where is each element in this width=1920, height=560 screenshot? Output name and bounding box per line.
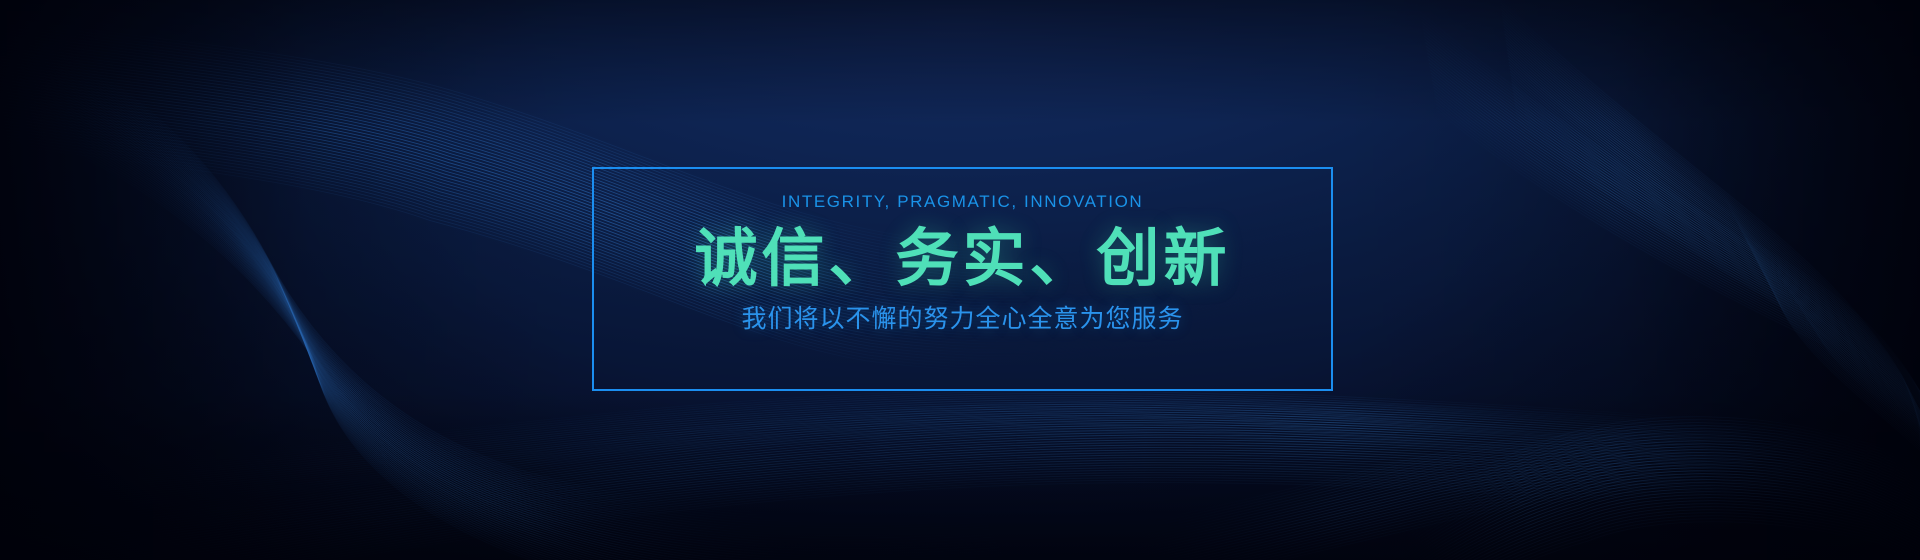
eyebrow-text: INTEGRITY, PRAGMATIC, INNOVATION: [782, 193, 1144, 210]
slogan-frame: INTEGRITY, PRAGMATIC, INNOVATION 诚信、务实、创…: [592, 167, 1333, 391]
hero-banner: INTEGRITY, PRAGMATIC, INNOVATION 诚信、务实、创…: [0, 0, 1920, 560]
subline-text: 我们将以不懈的努力全心全意为您服务: [741, 307, 1183, 332]
headline-text: 诚信、务实、创新: [695, 224, 1231, 295]
